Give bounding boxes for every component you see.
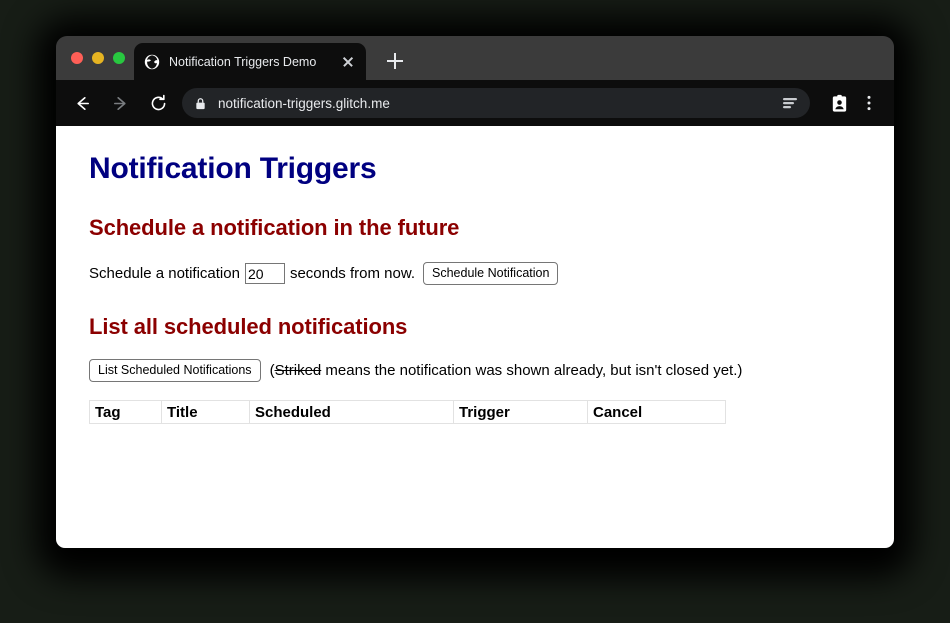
screen: Notification Triggers Demo [0, 0, 950, 623]
back-arrow-icon[interactable] [68, 89, 96, 117]
page-title: Notification Triggers [89, 152, 861, 186]
schedule-label-after: seconds from now. [290, 265, 415, 282]
profile-badge-icon[interactable] [826, 90, 852, 116]
forward-arrow-icon [106, 89, 134, 117]
close-window-button[interactable] [71, 52, 83, 64]
globe-icon [144, 54, 160, 70]
list-scheduled-notifications-button[interactable]: List Scheduled Notifications [89, 359, 261, 382]
browser-tab[interactable]: Notification Triggers Demo [134, 43, 366, 80]
scheduled-notifications-table: Tag Title Scheduled Trigger Cancel [89, 400, 726, 424]
legend-struck-word: Striked [275, 362, 322, 379]
window-controls [71, 52, 125, 64]
three-dot-menu-icon[interactable] [856, 90, 882, 116]
lock-icon [194, 97, 207, 110]
column-header-trigger: Trigger [454, 401, 588, 424]
maximize-window-button[interactable] [113, 52, 125, 64]
list-controls-row: List Scheduled Notifications (Striked me… [89, 359, 861, 382]
column-header-tag: Tag [90, 401, 162, 424]
tab-title: Notification Triggers Demo [169, 55, 336, 69]
schedule-section-heading: Schedule a notification in the future [89, 215, 861, 241]
address-bar-url: notification-triggers.glitch.me [218, 96, 782, 111]
schedule-form-row: Schedule a notification seconds from now… [89, 262, 861, 285]
browser-window: Notification Triggers Demo [56, 36, 894, 548]
schedule-notification-button[interactable]: Schedule Notification [423, 262, 558, 285]
column-header-title: Title [162, 401, 250, 424]
new-tab-button[interactable] [384, 50, 406, 72]
tab-strip: Notification Triggers Demo [56, 36, 894, 80]
column-header-cancel: Cancel [588, 401, 726, 424]
legend-rest: means the notification was shown already… [321, 362, 742, 379]
reload-icon[interactable] [144, 89, 172, 117]
close-tab-icon[interactable] [340, 54, 356, 70]
column-header-scheduled: Scheduled [250, 401, 454, 424]
page-content: Notification Triggers Schedule a notific… [56, 126, 894, 548]
reading-list-icon[interactable] [782, 96, 798, 110]
browser-toolbar: notification-triggers.glitch.me [56, 80, 894, 126]
table-header-row: Tag Title Scheduled Trigger Cancel [90, 401, 726, 424]
address-bar[interactable]: notification-triggers.glitch.me [182, 88, 810, 118]
list-section-heading: List all scheduled notifications [89, 314, 861, 340]
seconds-input[interactable] [245, 263, 285, 284]
strike-legend: (Striked means the notification was show… [270, 362, 743, 379]
minimize-window-button[interactable] [92, 52, 104, 64]
schedule-label-before: Schedule a notification [89, 265, 240, 282]
